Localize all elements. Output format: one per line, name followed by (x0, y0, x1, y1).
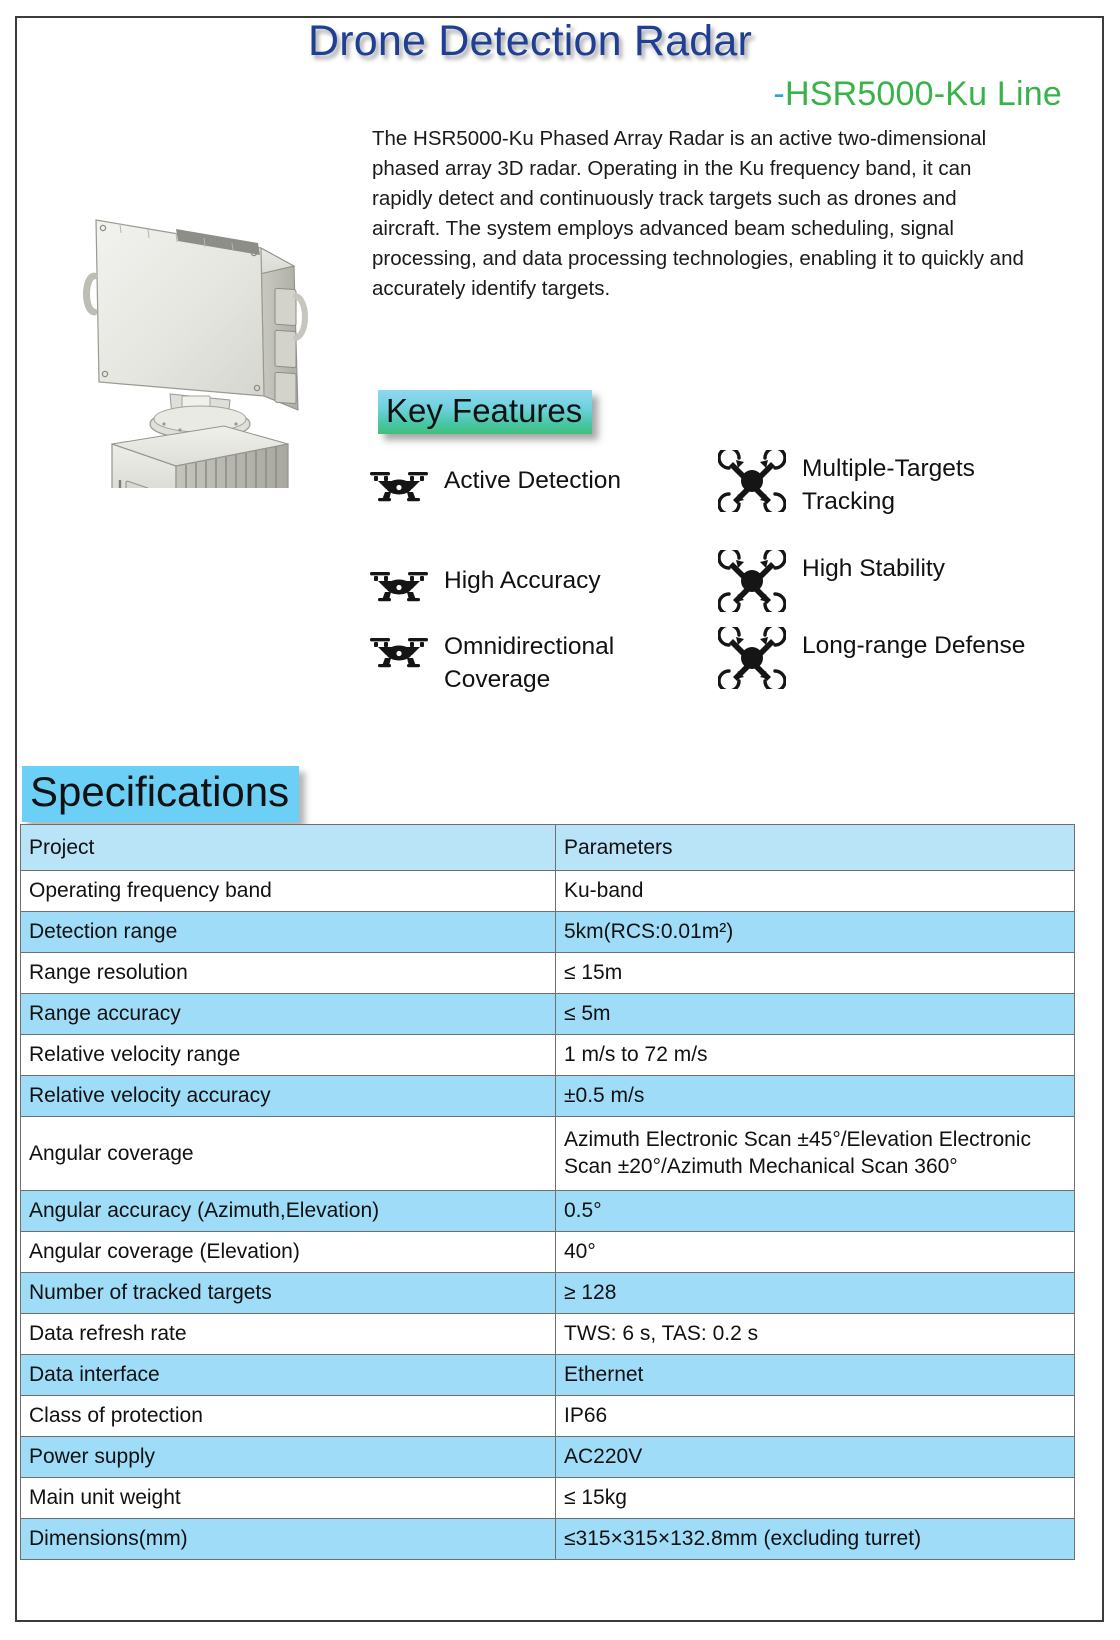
feature-label: Active Detection (430, 462, 621, 497)
page-title: Drone Detection Radar (0, 16, 1060, 66)
feature-item: High Stability (718, 550, 1068, 612)
feature-label: High Stability (786, 550, 945, 585)
drone-front-view-icon (368, 462, 430, 506)
table-row: Range resolution≤ 15m (21, 953, 1075, 994)
feature-item: Long-range Defense (718, 627, 1068, 689)
table-row: Relative velocity accuracy±0.5 m/s (21, 1076, 1075, 1117)
subtitle-model: HSR5000-Ku Line (785, 75, 1062, 113)
table-cell-parameters: ≤ 5m (556, 994, 1075, 1035)
table-cell-project: Angular coverage (Elevation) (21, 1232, 556, 1273)
table-row: Angular coverage (Elevation)40° (21, 1232, 1075, 1273)
feature-item: Multiple-Targets Tracking (718, 450, 1068, 518)
table-cell-parameters: 40° (556, 1232, 1075, 1273)
table-cell-parameters: Ethernet (556, 1355, 1075, 1396)
table-row: Relative velocity range1 m/s to 72 m/s (21, 1035, 1075, 1076)
feature-label: Multiple-Targets Tracking (786, 450, 1068, 518)
drone-front-view-icon (368, 628, 430, 672)
table-cell-parameters: 1 m/s to 72 m/s (556, 1035, 1075, 1076)
table-cell-project: Relative velocity range (21, 1035, 556, 1076)
table-cell-project: Range resolution (21, 953, 556, 994)
table-row: Data interfaceEthernet (21, 1355, 1075, 1396)
feature-label: High Accuracy (430, 562, 601, 597)
specifications-heading: Specifications (22, 766, 299, 822)
table-row: Angular accuracy (Azimuth,Elevation)0.5° (21, 1191, 1075, 1232)
table-cell-parameters: ±0.5 m/s (556, 1076, 1075, 1117)
radar-antenna-panel (87, 220, 306, 410)
table-cell-project: Main unit weight (21, 1478, 556, 1519)
table-cell-project: Range accuracy (21, 994, 556, 1035)
table-row: Number of tracked targets≥ 128 (21, 1273, 1075, 1314)
table-cell-project: Number of tracked targets (21, 1273, 556, 1314)
table-cell-parameters: 5km(RCS:0.01m²) (556, 912, 1075, 953)
feature-label: Long-range Defense (786, 627, 1025, 662)
table-cell-project: Data refresh rate (21, 1314, 556, 1355)
feature-label: Omnidirectional Coverage (430, 628, 718, 696)
table-row: Main unit weight≤ 15kg (21, 1478, 1075, 1519)
table-row: Power supplyAC220V (21, 1437, 1075, 1478)
table-cell-parameters: AC220V (556, 1437, 1075, 1478)
table-row: Angular coverageAzimuth Electronic Scan … (21, 1117, 1075, 1191)
key-features-list: Active Detection (368, 450, 1068, 715)
table-cell-parameters: IP66 (556, 1396, 1075, 1437)
key-features-heading: Key Features (378, 390, 592, 434)
drone-front-view-icon (368, 562, 430, 606)
table-row: Class of protectionIP66 (21, 1396, 1075, 1437)
feature-item: High Accuracy (368, 562, 718, 606)
table-cell-project: Class of protection (21, 1396, 556, 1437)
table-cell-parameters: ≥ 128 (556, 1273, 1075, 1314)
specifications-table: ProjectParametersOperating frequency ban… (20, 824, 1075, 1560)
table-header-row: ProjectParameters (21, 825, 1075, 871)
table-cell-parameters: Azimuth Electronic Scan ±45°/Elevation E… (556, 1117, 1075, 1191)
table-header-cell: Parameters (556, 825, 1075, 871)
radar-base-unit (112, 426, 288, 488)
table-cell-project: Relative velocity accuracy (21, 1076, 556, 1117)
product-model-subtitle: -HSR5000-Ku Line (773, 74, 1062, 114)
table-cell-parameters: 0.5° (556, 1191, 1075, 1232)
feature-item: Omnidirectional Coverage (368, 628, 718, 696)
table-row: Detection range5km(RCS:0.01m²) (21, 912, 1075, 953)
table-cell-project: Dimensions(mm) (21, 1519, 556, 1560)
table-row: Range accuracy≤ 5m (21, 994, 1075, 1035)
table-cell-project: Angular accuracy (Azimuth,Elevation) (21, 1191, 556, 1232)
drone-top-view-icon (718, 550, 786, 612)
drone-top-view-icon (718, 450, 786, 512)
subtitle-dash: - (773, 75, 785, 113)
table-cell-project: Data interface (21, 1355, 556, 1396)
phased-array-radar-image (72, 188, 324, 488)
table-cell-project: Detection range (21, 912, 556, 953)
table-cell-project: Operating frequency band (21, 871, 556, 912)
table-header-cell: Project (21, 825, 556, 871)
table-cell-parameters: ≤ 15kg (556, 1478, 1075, 1519)
product-description: The HSR5000-Ku Phased Array Radar is an … (372, 124, 1024, 304)
table-row: Data refresh rateTWS: 6 s, TAS: 0.2 s (21, 1314, 1075, 1355)
table-cell-project: Angular coverage (21, 1117, 556, 1191)
table-cell-parameters: Ku-band (556, 871, 1075, 912)
drone-top-view-icon (718, 627, 786, 689)
table-cell-parameters: ≤ 15m (556, 953, 1075, 994)
table-row: Dimensions(mm)≤315×315×132.8mm (excludin… (21, 1519, 1075, 1560)
table-cell-parameters: TWS: 6 s, TAS: 0.2 s (556, 1314, 1075, 1355)
document-header: Drone Detection Radar -HSR5000-Ku Line (0, 0, 1120, 118)
table-cell-parameters: ≤315×315×132.8mm (excluding turret) (556, 1519, 1075, 1560)
table-cell-project: Power supply (21, 1437, 556, 1478)
feature-item: Active Detection (368, 462, 718, 506)
table-row: Operating frequency bandKu-band (21, 871, 1075, 912)
